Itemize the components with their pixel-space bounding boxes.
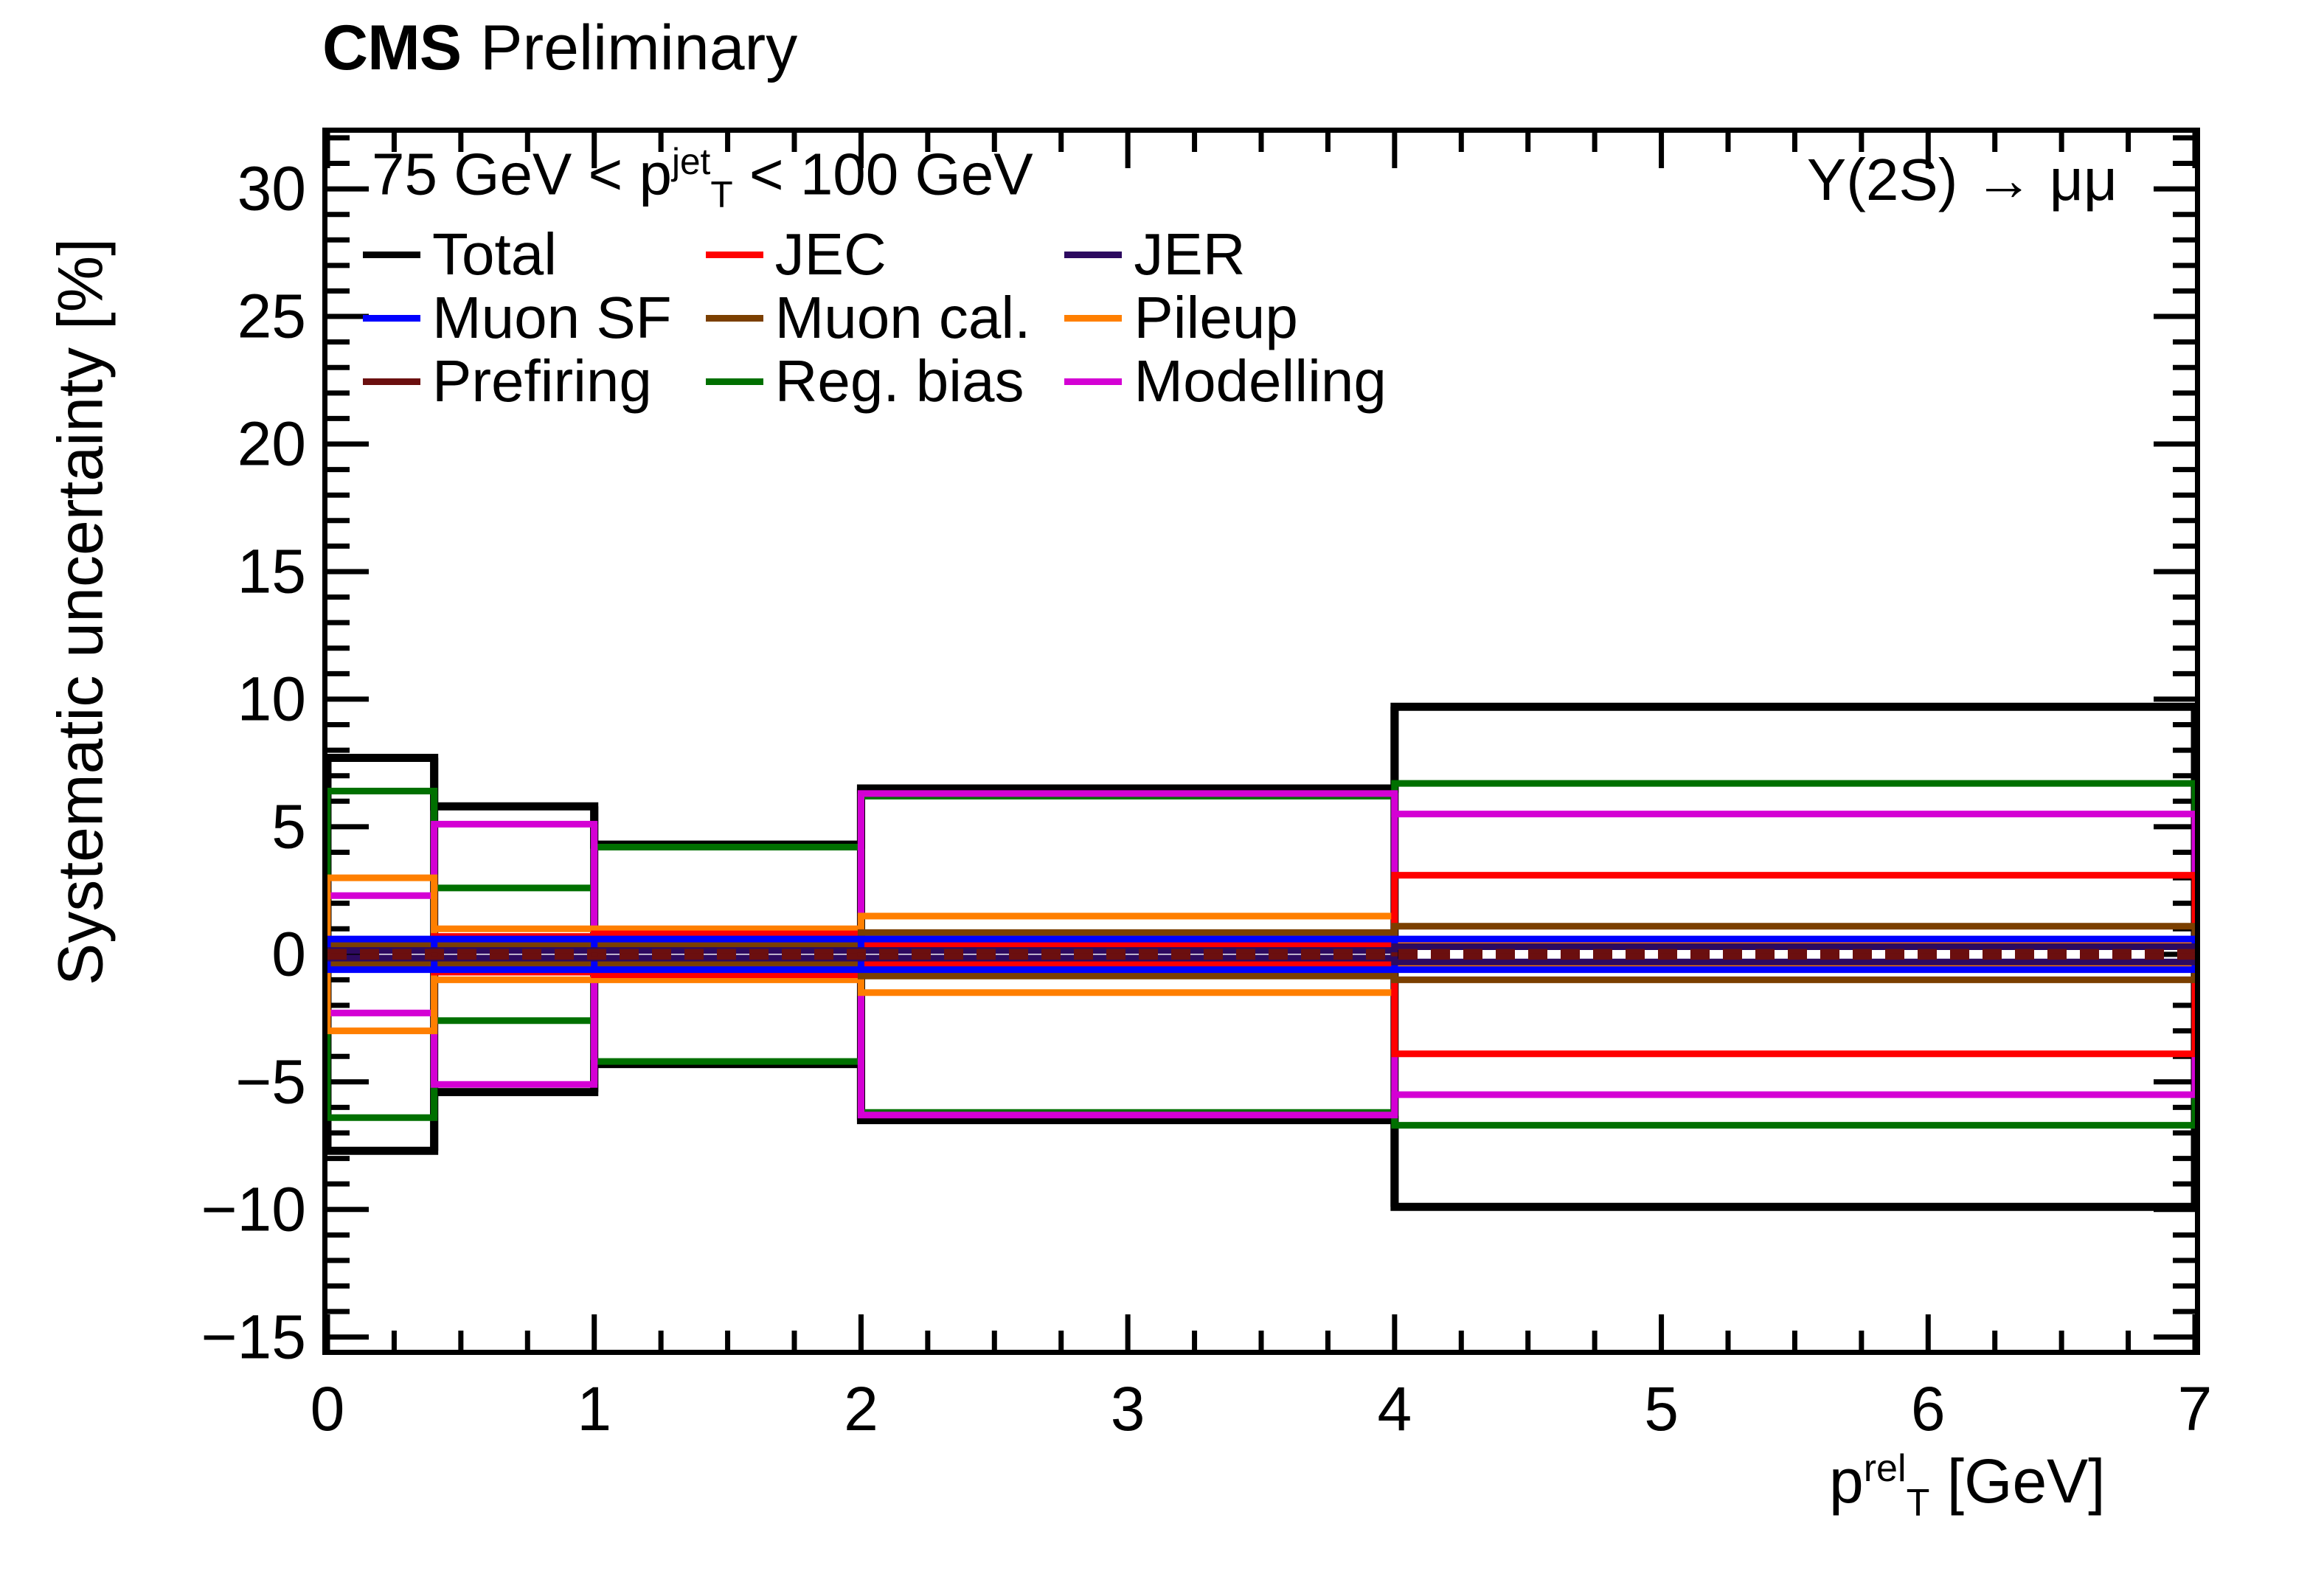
x-tick-label: 3	[1111, 1373, 1145, 1445]
cms-header: CMS Preliminary	[322, 7, 797, 89]
legend-entry[interactable]: Modelling	[1064, 352, 1386, 411]
pt-range-annotation: 75 GeV < pjetT < 100 GeV	[372, 140, 1033, 216]
x-tick-label: 5	[1644, 1373, 1679, 1445]
legend-swatch-icon	[363, 252, 420, 258]
decay-channel-annotation: Υ(2S) → μμ	[1807, 146, 2117, 214]
pt-range-hi: < 100 GeV	[733, 142, 1033, 207]
y-tick-label: 15	[237, 535, 306, 607]
legend-entry[interactable]: Muon cal.	[706, 288, 1031, 347]
plot-area[interactable]: 75 GeV < pjetT < 100 GeV Υ(2S) → μμ Tota…	[322, 128, 2200, 1355]
y-axis-tick-labels: 302520151050−5−10−15	[0, 0, 306, 1574]
y-tick-label: 30	[237, 153, 306, 225]
legend-entry[interactable]: Muon SF	[363, 288, 672, 347]
series-jer	[327, 946, 2195, 962]
legend-swatch-icon	[363, 315, 420, 322]
y-tick-label: 5	[271, 791, 306, 862]
x-axis-title-sup: rel	[1864, 1447, 1907, 1490]
legend-label: Prefiring	[432, 352, 652, 411]
legend-entry[interactable]: Reg. bias	[706, 352, 1031, 411]
legend-label: Muon SF	[432, 288, 672, 347]
legend-entry[interactable]: Pileup	[1064, 288, 1386, 347]
legend-entry[interactable]: JEC	[706, 225, 1031, 284]
pt-range-lo: 75 GeV < p	[372, 142, 672, 207]
legend-label: JEC	[775, 225, 887, 284]
x-axis-title: prelT [GeV]	[1829, 1446, 2106, 1525]
y-tick-label: 10	[237, 663, 306, 735]
legend-label: Reg. bias	[775, 352, 1024, 411]
legend-entry[interactable]: Prefiring	[363, 352, 672, 411]
legend-label: Modelling	[1134, 352, 1386, 411]
x-tick-label: 0	[311, 1373, 345, 1445]
y-tick-label: 20	[237, 409, 306, 480]
x-axis-title-base: p	[1829, 1446, 1864, 1516]
y-tick-label: 0	[271, 918, 306, 990]
chart-legend: TotalJECJERMuon SFMuon cal.PileupPrefiri…	[363, 225, 1387, 411]
y-tick-label: −15	[201, 1301, 307, 1373]
x-tick-label: 4	[1377, 1373, 1412, 1445]
preliminary-label: Preliminary	[480, 16, 797, 80]
legend-swatch-icon	[1064, 252, 1122, 258]
legend-swatch-icon	[706, 252, 763, 258]
legend-swatch-icon	[1064, 315, 1122, 322]
cms-logo-text: CMS	[322, 16, 461, 80]
legend-swatch-icon	[363, 378, 420, 385]
legend-label: JER	[1134, 225, 1245, 284]
x-tick-label: 2	[844, 1373, 878, 1445]
pt-range-sub: T	[710, 174, 732, 215]
x-tick-label: 6	[1911, 1373, 1946, 1445]
series-pileup	[327, 878, 2195, 1031]
legend-entry[interactable]: JER	[1064, 225, 1386, 284]
x-tick-label: 1	[577, 1373, 611, 1445]
y-tick-label: −5	[235, 1046, 306, 1117]
legend-swatch-icon	[706, 378, 763, 385]
pt-range-sup: jet	[672, 141, 710, 182]
x-tick-label: 7	[2178, 1373, 2213, 1445]
legend-swatch-icon	[1064, 378, 1122, 385]
series-reg-bias	[327, 783, 2195, 1126]
y-tick-label: −10	[201, 1173, 307, 1245]
legend-swatch-icon	[706, 315, 763, 322]
legend-entry[interactable]: Total	[363, 225, 672, 284]
legend-label: Pileup	[1134, 288, 1297, 347]
x-axis-title-unit: [GeV]	[1947, 1446, 2106, 1516]
legend-label: Total	[432, 225, 557, 284]
legend-label: Muon cal.	[775, 288, 1031, 347]
y-tick-label: 25	[237, 281, 306, 353]
x-axis-title-sub: T	[1907, 1482, 1930, 1525]
